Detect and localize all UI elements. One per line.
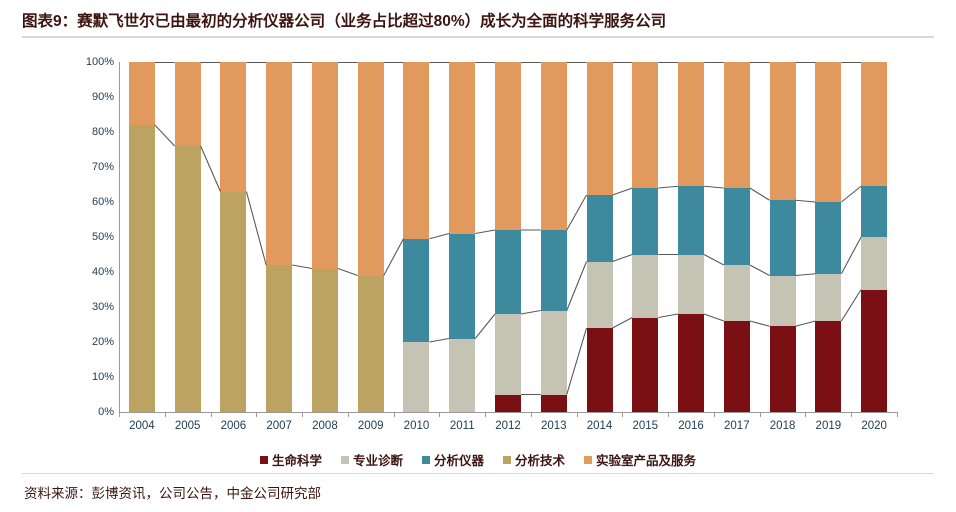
x-axis-line [119,412,898,413]
x-axis-tick [302,413,303,417]
legend-item-label: 分析仪器 [434,450,484,469]
bar-segment[interactable] [403,239,429,342]
bar-segment[interactable] [678,186,704,254]
bar-column[interactable] [495,62,521,412]
x-axis-tick [531,413,532,417]
bar-column[interactable] [861,62,887,412]
legend-item-label: 分析技术 [515,450,565,469]
bar-column[interactable] [541,62,567,412]
bar-segment[interactable] [266,265,292,412]
x-axis-tick [668,413,669,417]
x-axis-tick [714,413,715,417]
bar-segment[interactable] [358,276,384,413]
x-axis-tick [394,413,395,417]
y-axis-tick-label: 30% [68,301,114,313]
bar-segment[interactable] [449,339,475,413]
bar-segment[interactable] [403,62,429,239]
bar-segment[interactable] [312,269,338,413]
bar-segment[interactable] [815,202,841,274]
y-axis-tick-label: 0% [68,406,114,418]
bar-segment[interactable] [815,274,841,321]
bar-segment[interactable] [541,311,567,395]
x-axis-tick [485,413,486,417]
bar-segment[interactable] [632,318,658,413]
legend-item[interactable]: 分析技术 [503,450,565,469]
bar-column[interactable] [175,62,201,412]
bar-segment[interactable] [129,125,155,412]
bar-column[interactable] [403,62,429,412]
legend-item-label: 实验室产品及服务 [596,450,696,469]
legend-item[interactable]: 生命科学 [260,450,322,469]
x-axis-tick [211,413,212,417]
bar-column[interactable] [266,62,292,412]
bar-segment[interactable] [541,62,567,230]
bar-column[interactable] [678,62,704,412]
x-axis-label: 2020 [844,420,904,432]
bar-segment[interactable] [815,321,841,412]
bar-segment[interactable] [495,395,521,413]
bar-segment[interactable] [449,234,475,339]
y-axis-tick-label: 10% [68,371,114,383]
bar-segment[interactable] [449,62,475,234]
legend-swatch-icon [260,456,268,464]
bar-segment[interactable] [724,265,750,321]
bar-segment[interactable] [129,62,155,125]
bar-segment[interactable] [266,62,292,265]
chart-legend: 生命科学专业诊断分析仪器分析技术实验室产品及服务 [0,450,956,469]
x-axis-tick [897,413,898,417]
bar-segment[interactable] [632,62,658,188]
bar-segment[interactable] [358,62,384,276]
legend-item[interactable]: 分析仪器 [422,450,484,469]
y-axis-tick-label: 100% [68,56,114,68]
legend-item-label: 生命科学 [272,450,322,469]
bar-segment[interactable] [495,62,521,230]
y-axis-tick-label: 50% [68,231,114,243]
bar-segment[interactable] [632,188,658,255]
bar-segment[interactable] [678,62,704,186]
bar-column[interactable] [770,62,796,412]
y-axis-tick-label: 20% [68,336,114,348]
bar-segment[interactable] [587,62,613,195]
page-title: 图表9：赛默飞世尔已由最初的分析仪器公司（业务占比超过80%）成长为全面的科学服… [22,8,934,32]
bar-column[interactable] [815,62,841,412]
bar-segment[interactable] [770,276,796,327]
bar-segment[interactable] [175,146,201,412]
page-title-text: 图表9：赛默飞世尔已由最初的分析仪器公司（业务占比超过80%）成长为全面的科学服… [22,9,666,31]
chart-container: 0%10%20%30%40%50%60%70%80%90%100% 200420… [0,44,956,444]
bar-segment[interactable] [861,186,887,237]
bar-column[interactable] [587,62,613,412]
x-axis-tick [165,413,166,417]
plot-area [119,62,897,412]
bar-segment[interactable] [861,290,887,413]
title-divider [22,36,934,38]
bar-segment[interactable] [175,62,201,146]
bar-column[interactable] [129,62,155,412]
legend-swatch-icon [422,456,430,464]
bar-column[interactable] [449,62,475,412]
bar-segment[interactable] [724,188,750,265]
bar-segment[interactable] [220,192,246,413]
bar-segment[interactable] [541,395,567,413]
bar-column[interactable] [312,62,338,412]
bar-segment[interactable] [770,326,796,412]
legend-item-label: 专业诊断 [353,450,403,469]
legend-swatch-icon [341,456,349,464]
bar-segment[interactable] [220,62,246,192]
legend-item[interactable]: 专业诊断 [341,450,403,469]
chart-footer: 资料来源：彭博资讯，公司公告，中金公司研究部 [24,480,924,504]
bar-segment[interactable] [495,314,521,395]
x-axis-tick [577,413,578,417]
bar-column[interactable] [724,62,750,412]
bar-segment[interactable] [678,314,704,412]
bar-segment[interactable] [770,62,796,200]
footer-divider [22,473,934,474]
bar-segment[interactable] [632,255,658,318]
chart-page: 图表9：赛默飞世尔已由最初的分析仪器公司（业务占比超过80%）成长为全面的科学服… [0,0,956,512]
y-axis-tick-label: 60% [68,196,114,208]
x-axis-tick [805,413,806,417]
y-axis-tick-label: 40% [68,266,114,278]
bar-segment[interactable] [312,62,338,269]
y-axis-tick-label: 80% [68,126,114,138]
source-text: 资料来源：彭博资讯，公司公告，中金公司研究部 [24,482,321,502]
legend-item[interactable]: 实验室产品及服务 [584,450,696,469]
bar-segment[interactable] [587,262,613,329]
bar-segment[interactable] [861,237,887,290]
bar-column[interactable] [358,62,384,412]
bar-segment[interactable] [815,62,841,202]
y-axis-tick-label: 90% [68,91,114,103]
bar-segment[interactable] [587,328,613,412]
x-axis-tick [256,413,257,417]
bar-segment[interactable] [678,255,704,315]
bar-segment[interactable] [770,200,796,275]
bar-segment[interactable] [724,62,750,188]
bar-column[interactable] [632,62,658,412]
legend-swatch-icon [584,456,592,464]
bar-segment[interactable] [541,230,567,311]
bar-segment[interactable] [403,342,429,412]
bar-column[interactable] [220,62,246,412]
x-axis-tick [622,413,623,417]
x-axis-tick [851,413,852,417]
bar-segment[interactable] [861,62,887,186]
bar-segment[interactable] [495,230,521,314]
y-axis-tick-label: 70% [68,161,114,173]
legend-swatch-icon [503,456,511,464]
x-axis-tick [119,413,120,417]
bar-segment[interactable] [587,195,613,262]
y-axis-labels: 0%10%20%30%40%50%60%70%80%90%100% [62,62,114,413]
x-axis-tick [760,413,761,417]
x-axis-tick [439,413,440,417]
x-axis-tick [348,413,349,417]
bar-segment[interactable] [724,321,750,412]
